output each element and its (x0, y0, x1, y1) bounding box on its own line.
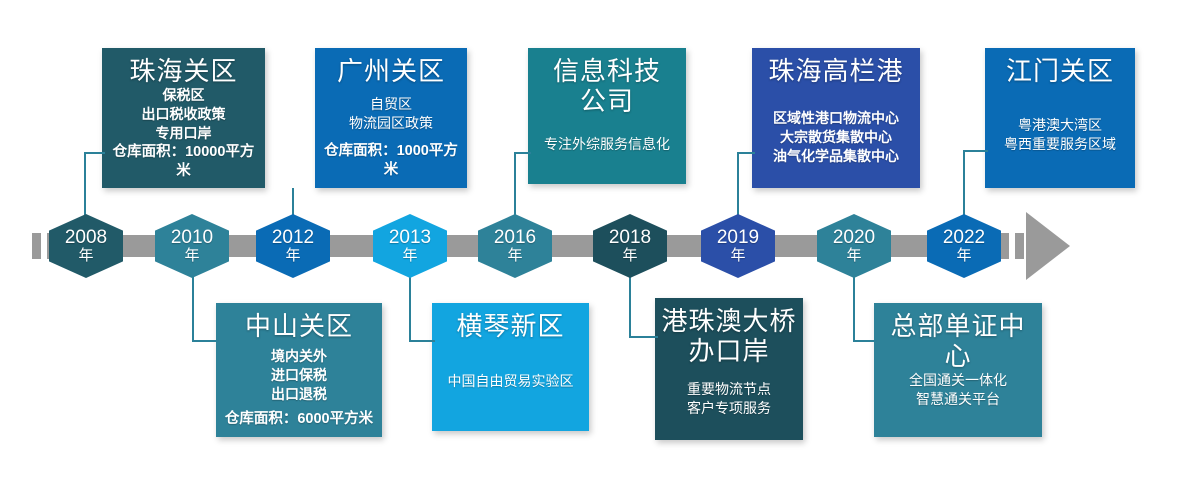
node-year-suffix: 年 (622, 248, 637, 264)
card-hq-document-center[interactable]: 总部单证中心 全国通关一体化 智慧通关平台 (874, 303, 1042, 437)
node-year-suffix: 年 (846, 248, 861, 264)
card-detail-lines: 区域性港口物流中心 大宗散货集散中心 油气化学品集散中心 (773, 109, 899, 166)
card-detail-lines: 境内关外 进口保税 出口退税 (271, 347, 327, 404)
node-year-suffix: 年 (78, 248, 93, 264)
card-title: 信息科技 公司 (553, 56, 661, 116)
connector-2022 (963, 150, 988, 226)
card-zhongshan-customs[interactable]: 中山关区 境内关外 进口保税 出口退税 仓库面积：6000平方米 (216, 303, 382, 437)
node-year: 2020 (833, 228, 875, 248)
connector-2010 (192, 268, 219, 342)
card-title: 广州关区 (337, 56, 445, 86)
timeline-node-2016[interactable]: 2016 年 (478, 214, 552, 278)
card-title: 中山关区 (245, 311, 353, 341)
node-year: 2013 (389, 228, 431, 248)
connector-2018 (629, 268, 658, 338)
card-footer: 仓库面积：6000平方米 (225, 410, 373, 429)
node-year-suffix: 年 (730, 248, 745, 264)
card-detail-lines: 粤港澳大湾区 粤西重要服务区域 (1004, 116, 1116, 154)
timeline-node-2020[interactable]: 2020 年 (817, 214, 891, 278)
timeline-left-dash-1 (32, 233, 41, 259)
connector-2020 (853, 268, 877, 342)
connector-2013 (409, 268, 435, 342)
node-year: 2022 (943, 228, 985, 248)
card-detail-lines: 自贸区 物流园区政策 (349, 95, 433, 133)
timeline-node-2019[interactable]: 2019 年 (701, 214, 775, 278)
card-detail-lines: 中国自由贸易实验区 (448, 372, 574, 391)
node-year: 2008 (65, 228, 107, 248)
node-year-suffix: 年 (402, 248, 417, 264)
card-detail-lines: 专注外综服务信息化 (544, 135, 670, 154)
timeline-right-dash-1 (1000, 233, 1009, 259)
node-year: 2012 (272, 228, 314, 248)
card-title: 珠海关区 (129, 56, 237, 86)
node-year: 2010 (171, 228, 213, 248)
card-jiangmen-customs[interactable]: 江门关区 粤港澳大湾区 粤西重要服务区域 (985, 48, 1135, 188)
timeline-node-2008[interactable]: 2008 年 (49, 214, 123, 278)
node-year-suffix: 年 (956, 248, 971, 264)
card-zhuhai-gaolan-port[interactable]: 珠海高栏港 区域性港口物流中心 大宗散货集散中心 油气化学品集散中心 (752, 48, 920, 188)
node-year-suffix: 年 (507, 248, 522, 264)
node-year: 2016 (494, 228, 536, 248)
card-detail-lines: 重要物流节点 客户专项服务 (687, 380, 771, 418)
node-year: 2018 (609, 228, 651, 248)
card-title: 港珠澳大桥 办口岸 (661, 306, 796, 366)
timeline-node-2012[interactable]: 2012 年 (256, 214, 330, 278)
node-year-suffix: 年 (184, 248, 199, 264)
card-footer: 仓库面积：1000平方米 (321, 142, 461, 180)
card-guangzhou-customs[interactable]: 广州关区 自贸区 物流园区政策 仓库面积：1000平方米 (315, 48, 467, 188)
card-hzmb-port[interactable]: 港珠澳大桥 办口岸 重要物流节点 客户专项服务 (655, 298, 803, 440)
card-title: 横琴新区 (456, 311, 564, 341)
timeline-node-2013[interactable]: 2013 年 (373, 214, 447, 278)
card-title: 江门关区 (1006, 56, 1114, 86)
timeline-arrow-icon (1026, 212, 1070, 280)
card-footer: 仓库面积：10000平方米 (108, 143, 259, 181)
card-detail-lines: 保税区 出口税收政策 专用口岸 (142, 86, 226, 143)
card-title: 总部单证中心 (880, 311, 1036, 371)
card-zhuhai-customs[interactable]: 珠海关区 保税区 出口税收政策 专用口岸 仓库面积：10000平方米 (102, 48, 265, 188)
node-year: 2019 (717, 228, 759, 248)
card-detail-lines: 全国通关一体化 智慧通关平台 (909, 371, 1007, 409)
card-info-tech-company[interactable]: 信息科技 公司 专注外综服务信息化 (528, 48, 686, 184)
timeline-infographic: 珠海关区 保税区 出口税收政策 专用口岸 仓库面积：10000平方米 广州关区 … (0, 0, 1200, 500)
card-hengqin-new-area[interactable]: 横琴新区 中国自由贸易实验区 (432, 303, 589, 431)
timeline-node-2022[interactable]: 2022 年 (927, 214, 1001, 278)
node-year-suffix: 年 (285, 248, 300, 264)
timeline-right-dash-2 (1015, 233, 1024, 259)
card-title: 珠海高栏港 (768, 56, 903, 86)
